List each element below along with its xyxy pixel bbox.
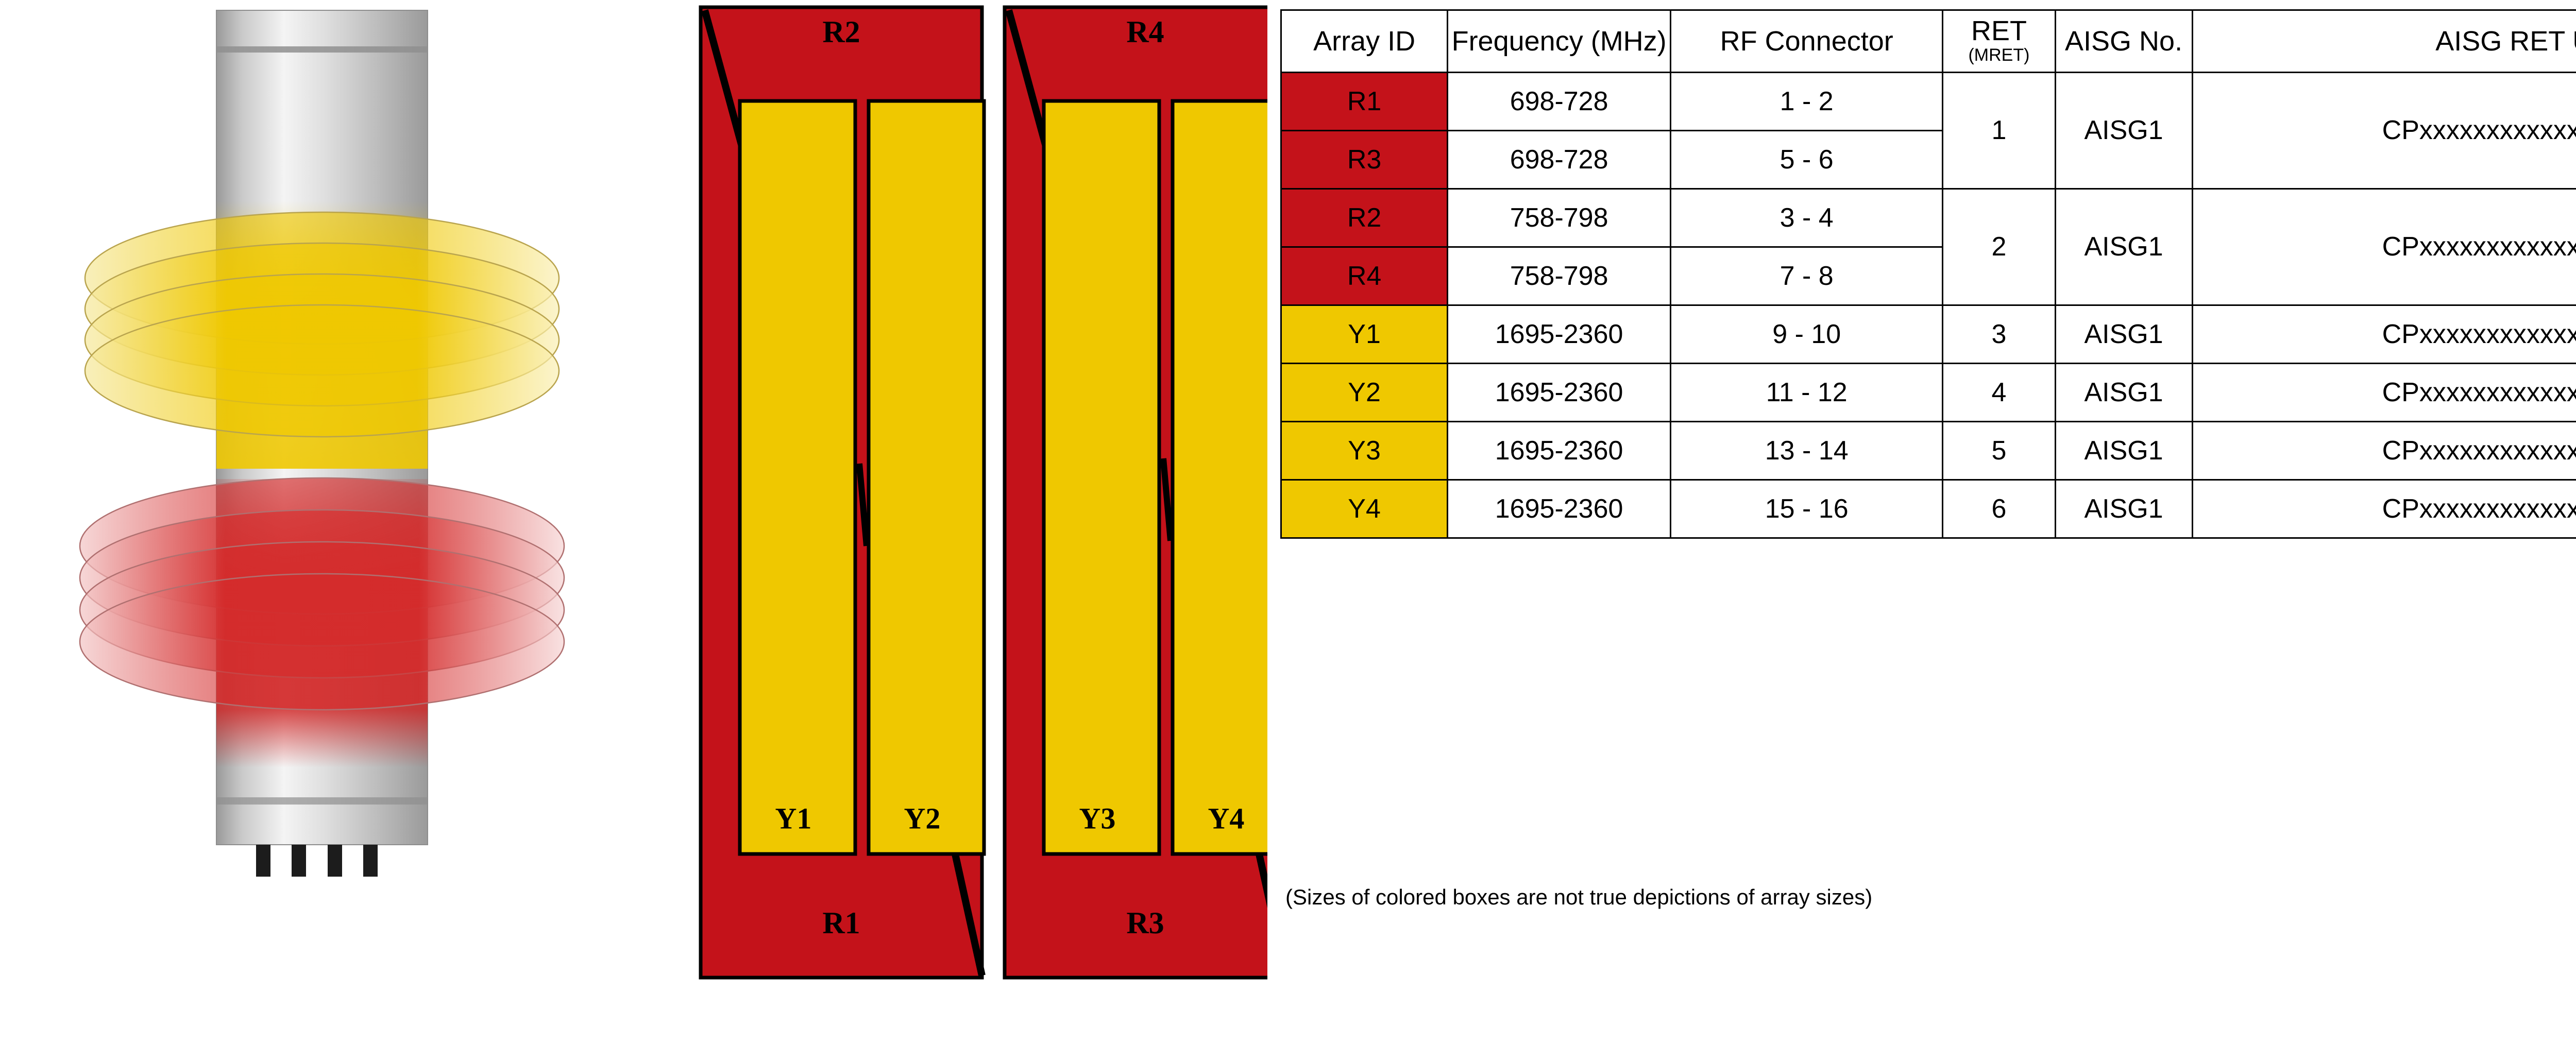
lower-radiation-lobes-red [80, 478, 564, 710]
cell-rf-connector: 11 - 12 [1671, 364, 1943, 422]
cell-ret: 4 [1943, 364, 2055, 422]
cell-ret: 5 [1943, 422, 2055, 480]
cell-aisg-ret-uid: CPxxxxxxxxxxxxxxMM.6 [2192, 480, 2576, 538]
cell-frequency: 1695-2360 [1448, 364, 1671, 422]
header-array-id: Array ID [1281, 10, 1448, 73]
antenna-tower-figure [0, 0, 639, 1040]
array-panel-right: R4 Y3 Y4 R3 [1005, 7, 1267, 978]
cell-rf-connector: 13 - 14 [1671, 422, 1943, 480]
panel-left-bottom-label: R1 [822, 906, 860, 940]
table-row: Y1 1695-2360 9 - 10 3 AISG1 CPxxxxxxxxxx… [1281, 305, 2576, 364]
cell-rf-connector: 15 - 16 [1671, 480, 1943, 538]
cell-rf-connector: 9 - 10 [1671, 305, 1943, 364]
array-spec-table-region: Array ID Frequency (MHz) RF Connector RE… [1280, 9, 2576, 539]
cell-array-id: R2 [1281, 189, 1448, 247]
table-footnote: (Sizes of colored boxes are not true dep… [1285, 885, 1872, 910]
array-bar-y2 [869, 101, 984, 854]
cell-aisg-no: AISG1 [2055, 305, 2192, 364]
panel-left-top-label: R2 [822, 15, 860, 49]
header-ret-main: RET [1943, 17, 2054, 45]
cell-rf-connector: 5 - 6 [1671, 131, 1943, 189]
connector-pins [256, 845, 378, 877]
cell-array-id: Y2 [1281, 364, 1448, 422]
cell-aisg-ret-uid: CPxxxxxxxxxxxxxxMM.1 [2192, 73, 2576, 189]
table-row: R1 698-728 1 - 2 1 AISG1 CPxxxxxxxxxxxxx… [1281, 73, 2576, 131]
cell-aisg-ret-uid: CPxxxxxxxxxxxxxxMM.4 [2192, 364, 2576, 422]
table-row: Y2 1695-2360 11 - 12 4 AISG1 CPxxxxxxxxx… [1281, 364, 2576, 422]
cell-ret: 2 [1943, 189, 2055, 305]
table-header-row: Array ID Frequency (MHz) RF Connector RE… [1281, 10, 2576, 73]
array-panel-left: R2 Y1 Y2 R1 [701, 7, 984, 978]
cell-aisg-ret-uid: CPxxxxxxxxxxxxxxMM.3 [2192, 305, 2576, 364]
cell-ret: 3 [1943, 305, 2055, 364]
table-row: R2 758-798 3 - 4 2 AISG1 CPxxxxxxxxxxxxx… [1281, 189, 2576, 247]
upper-radiation-lobes-yellow [85, 212, 559, 437]
panel-right-bottom-label: R3 [1126, 906, 1164, 940]
header-rf-connector: RF Connector [1671, 10, 1943, 73]
array-bar-y1 [740, 101, 855, 854]
cell-aisg-no: AISG1 [2055, 73, 2192, 189]
header-ret-sub: (MRET) [1943, 45, 2054, 66]
array-panels-figure: R2 Y1 Y2 R1 R4 Y3 Y4 R3 [644, 0, 1267, 1040]
panel-right-top-label: R4 [1126, 15, 1164, 49]
header-aisg-no: AISG No. [2055, 10, 2192, 73]
cell-aisg-no: AISG1 [2055, 189, 2192, 305]
table-body: R1 698-728 1 - 2 1 AISG1 CPxxxxxxxxxxxxx… [1281, 73, 2576, 538]
cell-rf-connector: 7 - 8 [1671, 247, 1943, 305]
panel-right-bar2-label: Y4 [1208, 801, 1245, 835]
panel-left-bar2-label: Y2 [904, 801, 941, 835]
header-aisg-ret-uid: AISG RET UID [2192, 10, 2576, 73]
cell-aisg-no: AISG1 [2055, 364, 2192, 422]
array-bar-y3 [1044, 101, 1159, 854]
table-header: Array ID Frequency (MHz) RF Connector RE… [1281, 10, 2576, 73]
cell-ret: 6 [1943, 480, 2055, 538]
antenna-tower-svg [0, 0, 639, 1040]
cell-ret: 1 [1943, 73, 2055, 189]
cell-array-id: Y4 [1281, 480, 1448, 538]
cell-frequency: 698-728 [1448, 73, 1671, 131]
cell-frequency: 698-728 [1448, 131, 1671, 189]
cell-array-id: Y1 [1281, 305, 1448, 364]
cell-frequency: 758-798 [1448, 247, 1671, 305]
panel-left-bar1-label: Y1 [775, 801, 812, 835]
cell-frequency: 1695-2360 [1448, 305, 1671, 364]
array-bar-y4 [1173, 101, 1267, 854]
panel-right-bar1-label: Y3 [1079, 801, 1116, 835]
header-frequency: Frequency (MHz) [1448, 10, 1671, 73]
cell-frequency: 758-798 [1448, 189, 1671, 247]
cell-array-id: R4 [1281, 247, 1448, 305]
cell-aisg-ret-uid: CPxxxxxxxxxxxxxxMM.2 [2192, 189, 2576, 305]
header-ret: RET (MRET) [1943, 10, 2055, 73]
cell-aisg-no: AISG1 [2055, 422, 2192, 480]
table-row: Y3 1695-2360 13 - 14 5 AISG1 CPxxxxxxxxx… [1281, 422, 2576, 480]
cell-frequency: 1695-2360 [1448, 480, 1671, 538]
cell-frequency: 1695-2360 [1448, 422, 1671, 480]
cell-array-id: Y3 [1281, 422, 1448, 480]
cell-rf-connector: 1 - 2 [1671, 73, 1943, 131]
cell-array-id: R3 [1281, 131, 1448, 189]
cell-rf-connector: 3 - 4 [1671, 189, 1943, 247]
cell-aisg-ret-uid: CPxxxxxxxxxxxxxxMM.5 [2192, 422, 2576, 480]
cell-aisg-no: AISG1 [2055, 480, 2192, 538]
array-spec-table: Array ID Frequency (MHz) RF Connector RE… [1280, 9, 2576, 539]
table-row: Y4 1695-2360 15 - 16 6 AISG1 CPxxxxxxxxx… [1281, 480, 2576, 538]
cell-array-id: R1 [1281, 73, 1448, 131]
array-panels-svg: R2 Y1 Y2 R1 R4 Y3 Y4 R3 [644, 0, 1267, 1040]
